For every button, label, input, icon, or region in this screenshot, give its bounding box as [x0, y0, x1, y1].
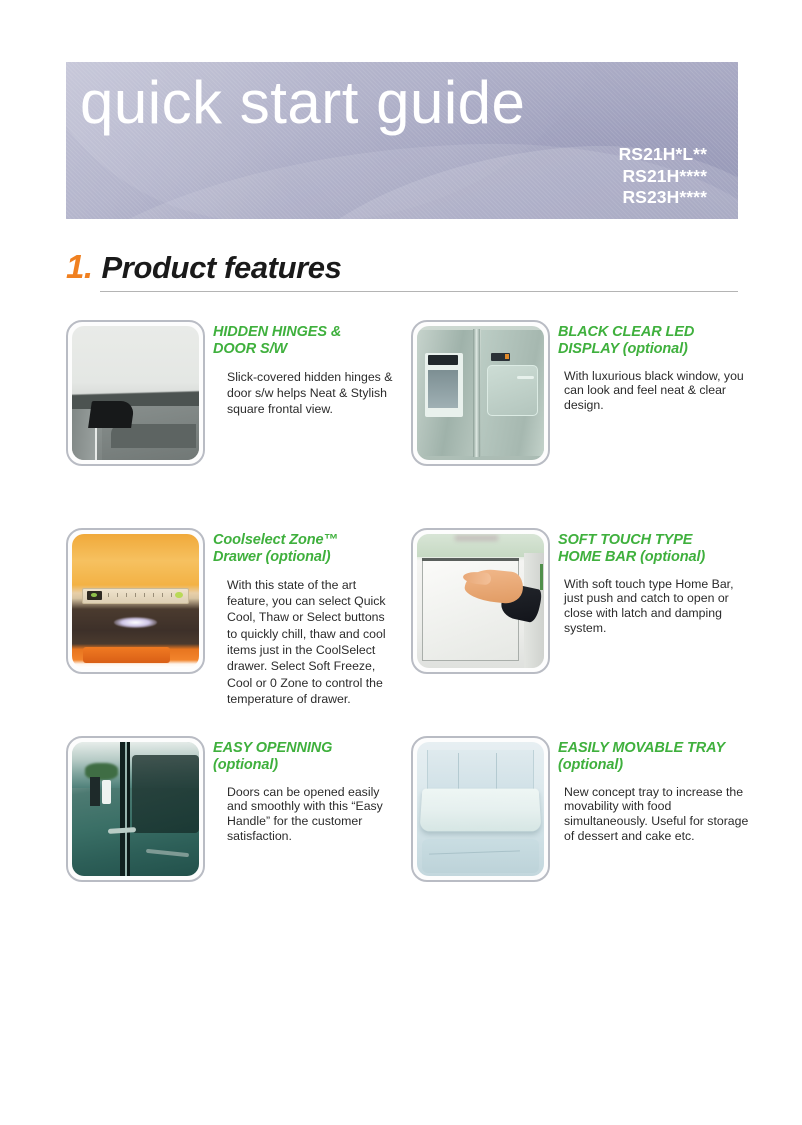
feature-thumbnail-wrap — [66, 320, 205, 466]
feature-row-3: EASY OPENNING (optional) Doors can be op… — [66, 736, 738, 936]
feature-thumbnail-wrap — [66, 528, 205, 674]
quick-start-guide-banner: quick start guide RS21H*L** RS21H**** RS… — [66, 62, 738, 219]
feature-heading: SOFT TOUCH TYPE HOME BAR (optional) — [558, 532, 750, 566]
feature-item-easy-opening: EASY OPENNING (optional) Doors can be op… — [66, 736, 393, 882]
coolselect-zone-drawer-photo — [66, 528, 205, 674]
model-number-3: RS23H**** — [619, 187, 707, 209]
feature-thumbnail-wrap — [411, 320, 550, 466]
feature-body: With this state of the art feature, you … — [227, 577, 393, 708]
feature-thumbnail-wrap — [66, 736, 205, 882]
feature-thumbnail-wrap — [411, 528, 550, 674]
feature-row-2: Coolselect Zone™ Drawer (optional) With … — [66, 528, 738, 736]
model-number-1: RS21H*L** — [619, 144, 707, 166]
feature-text-block: SOFT TOUCH TYPE HOME BAR (optional) With… — [550, 528, 750, 635]
feature-body: With luxurious black window, you can loo… — [564, 369, 750, 413]
easily-movable-tray-photo — [411, 736, 550, 882]
feature-heading: EASILY MOVABLE TRAY (optional) — [558, 740, 750, 774]
feature-body: Slick-covered hidden hinges & door s/w h… — [227, 369, 393, 418]
feature-text-block: HIDDEN HINGES & DOOR S/W Slick-covered h… — [205, 320, 393, 418]
feature-text-block: BLACK CLEAR LED DISPLAY (optional) With … — [550, 320, 750, 413]
feature-text-block: Coolselect Zone™ Drawer (optional) With … — [205, 528, 393, 707]
feature-item-easily-movable-tray: EASILY MOVABLE TRAY (optional) New conce… — [411, 736, 750, 882]
hidden-hinges-photo — [66, 320, 205, 466]
easy-opening-photo — [66, 736, 205, 882]
section-header: 1. Product features — [66, 248, 738, 292]
feature-body: Doors can be opened easily and smoothly … — [227, 785, 393, 844]
feature-item-coolselect-zone-drawer: Coolselect Zone™ Drawer (optional) With … — [66, 528, 393, 707]
section-divider — [100, 291, 738, 292]
feature-body: With soft touch type Home Bar, just push… — [564, 577, 750, 636]
feature-body: New concept tray to increase the movabil… — [564, 785, 750, 844]
section-number: 1. — [66, 248, 93, 286]
feature-heading: EASY OPENNING (optional) — [213, 740, 393, 774]
feature-item-soft-touch-home-bar: SOFT TOUCH TYPE HOME BAR (optional) With… — [411, 528, 750, 674]
feature-thumbnail-wrap — [411, 736, 550, 882]
feature-heading: BLACK CLEAR LED DISPLAY (optional) — [558, 324, 750, 358]
feature-heading: HIDDEN HINGES & DOOR S/W — [213, 324, 393, 358]
feature-row-1: HIDDEN HINGES & DOOR S/W Slick-covered h… — [66, 320, 738, 528]
feature-text-block: EASY OPENNING (optional) Doors can be op… — [205, 736, 393, 843]
product-features-grid: HIDDEN HINGES & DOOR S/W Slick-covered h… — [66, 320, 738, 936]
model-number-2: RS21H**** — [619, 166, 707, 188]
black-clear-led-display-photo — [411, 320, 550, 466]
feature-item-hidden-hinges: HIDDEN HINGES & DOOR S/W Slick-covered h… — [66, 320, 393, 466]
section-header-row: 1. Product features — [66, 248, 738, 290]
banner-title: quick start guide — [80, 71, 525, 134]
feature-item-black-clear-led-display: BLACK CLEAR LED DISPLAY (optional) With … — [411, 320, 750, 466]
section-title: Product features — [102, 250, 342, 286]
soft-touch-home-bar-photo — [411, 528, 550, 674]
feature-text-block: EASILY MOVABLE TRAY (optional) New conce… — [550, 736, 750, 843]
feature-heading: Coolselect Zone™ Drawer (optional) — [213, 532, 393, 566]
model-number-list: RS21H*L** RS21H**** RS23H**** — [619, 144, 707, 209]
